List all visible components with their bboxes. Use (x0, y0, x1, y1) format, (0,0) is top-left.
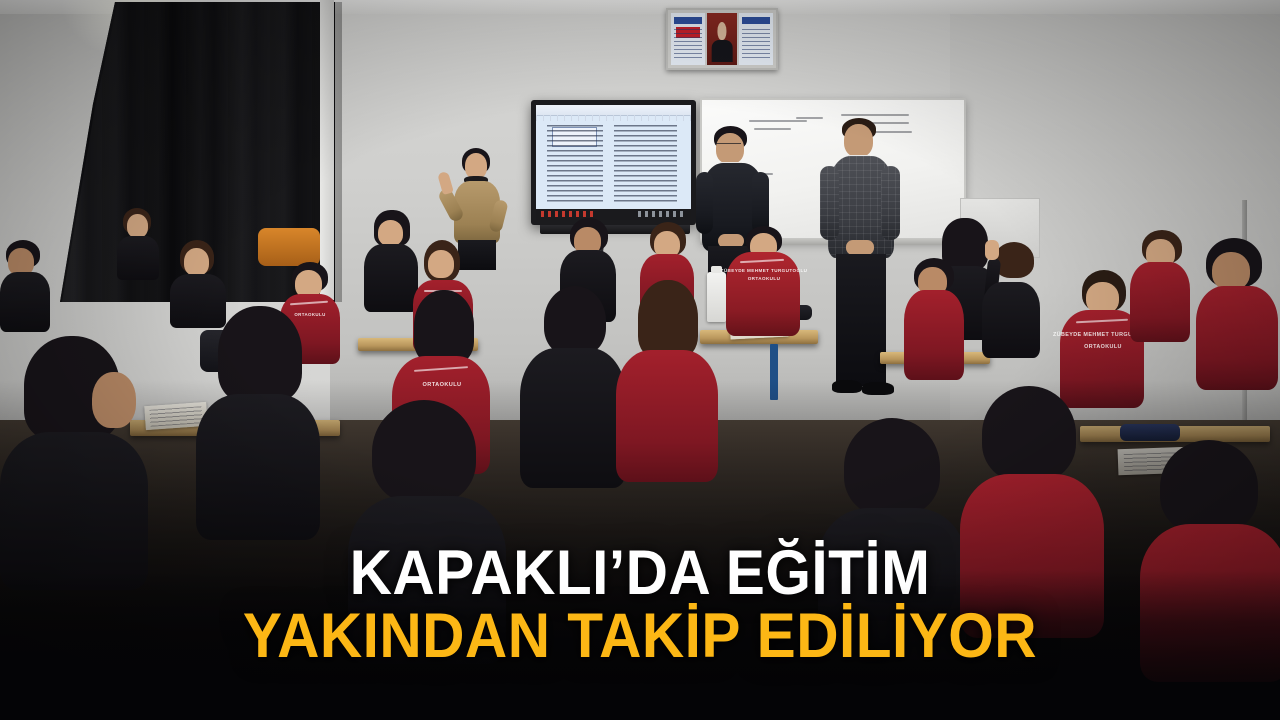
interactive-whiteboard-screen[interactable] (531, 100, 696, 225)
ataturk-frame-set (666, 8, 778, 70)
student-seated (1130, 230, 1192, 340)
address-to-youth-plaque-icon (739, 13, 773, 65)
board-display (536, 105, 691, 220)
uniform-school-text: ORTAOKULU (423, 382, 462, 388)
headline-overlay: KAPAKLI’DA EĞİTİM YAKINDAN TAKİP EDİLİYO… (0, 543, 1280, 668)
student-hand-raised (980, 236, 1042, 356)
uniform-school-text: ZÜBEYDE MEHMET TURGUTOĞLU (721, 268, 808, 273)
document-ruler (536, 115, 691, 121)
headline-line-2: YAKINDAN TAKİP EDİLİYOR (45, 604, 1235, 668)
taskbar-icons-left (541, 211, 594, 217)
document-text-column-left (547, 125, 603, 204)
student-foreground (196, 306, 322, 536)
news-photo-card: ORTAOKULU ZÜBEYDE MEHMET TURGUTOĞLU ORTA… (0, 0, 1280, 720)
student-seated: ZÜBEYDE MEHMET TURGUTOĞLU ORTAOKULU (726, 226, 802, 336)
uniform-school-text: ORTAOKULU (1084, 344, 1122, 350)
uniform-school-text: ORTAOKULU (748, 276, 781, 281)
curtain-edge-wall (320, 0, 334, 300)
ataturk-portrait-icon (707, 13, 737, 65)
student-seated (0, 240, 52, 330)
backpack-orange (258, 228, 320, 266)
anthem-plaque-icon (671, 13, 705, 65)
taskbar-icons-right (638, 211, 685, 217)
student-seated (904, 258, 966, 378)
document-text-column-right (614, 125, 678, 204)
student-seated (115, 208, 161, 278)
student-foreground (520, 286, 628, 486)
official-checked-suit (818, 118, 904, 408)
student-foreground (616, 280, 720, 480)
headline-line-1: KAPAKLI’DA EĞİTİM (45, 543, 1235, 604)
student-seated (1196, 238, 1280, 388)
